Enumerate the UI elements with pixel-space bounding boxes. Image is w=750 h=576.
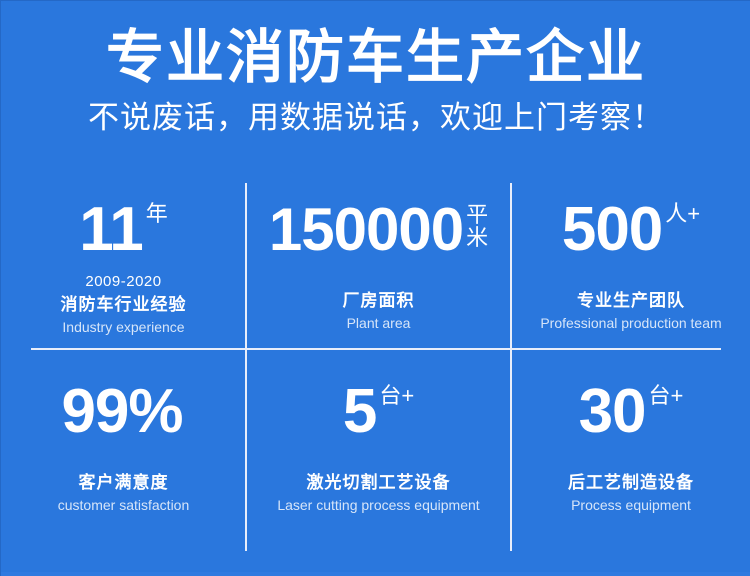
stat-cell-customer-satisfaction: 99% 客户满意度 customer satisfaction (1, 349, 246, 553)
stat-label-en: Process equipment (571, 496, 691, 514)
promo-poster: 专业消防车生产企业 不说废话，用数据说话，欢迎上门考察！ 11 年 2009-2… (0, 0, 750, 576)
stat-value: 99% (61, 381, 182, 443)
stat-number-row: 500 人+ (562, 199, 700, 261)
stat-label-cn: 专业生产团队 (577, 290, 685, 312)
stat-number-row: 99% (61, 381, 185, 443)
stat-unit-text: 年 (146, 203, 168, 225)
stats-grid: 11 年 2009-2020 消防车行业经验 Industry experien… (1, 177, 750, 553)
stat-unit: 台+ (649, 385, 684, 407)
stat-label-cn: 厂房面积 (343, 290, 415, 312)
stat-label-en: Plant area (347, 314, 411, 332)
stat-label-cn: 后工艺制造设备 (568, 472, 694, 494)
stat-cell-plant-area: 150000 平 米 厂房面积 Plant area (246, 177, 511, 349)
stat-label-en: Professional production team (540, 314, 721, 332)
stat-unit-text: 台+ (649, 385, 684, 407)
stat-cell-laser-cutting: 5 台+ 激光切割工艺设备 Laser cutting process equi… (246, 349, 511, 553)
stat-unit-text-top: 平 (466, 203, 488, 226)
stat-unit-text: 人+ (665, 203, 700, 225)
stat-value: 5 (343, 381, 376, 443)
stat-unit-text-bottom: 米 (466, 226, 488, 249)
stat-value: 11 (79, 199, 143, 261)
stat-number-row: 5 台+ (343, 381, 414, 443)
stat-value: 30 (579, 381, 646, 443)
stat-number-row: 150000 平 米 (269, 199, 488, 261)
bottom-edge-strip (1, 572, 750, 576)
stat-label-cn: 激光切割工艺设备 (307, 472, 451, 494)
stat-label-en: Industry experience (62, 318, 184, 336)
stat-unit: 平 米 (466, 203, 488, 249)
stat-value: 150000 (269, 199, 463, 261)
stat-label-en: customer satisfaction (58, 496, 190, 514)
stat-label-cn: 消防车行业经验 (61, 294, 187, 316)
stat-year-range: 2009-2020 (85, 273, 161, 291)
stat-unit-text: 台+ (379, 385, 414, 407)
stat-number-row: 30 台+ (579, 381, 684, 443)
stat-unit: 人+ (665, 203, 700, 225)
stat-cell-process-equipment: 30 台+ 后工艺制造设备 Process equipment (511, 349, 750, 553)
page-title: 专业消防车生产企业 (1, 25, 750, 91)
stat-unit: 台+ (379, 385, 414, 407)
page-subtitle: 不说废话，用数据说话，欢迎上门考察！ (1, 99, 750, 137)
stat-cell-industry-experience: 11 年 2009-2020 消防车行业经验 Industry experien… (1, 177, 246, 349)
stat-label-en: Laser cutting process equipment (277, 496, 479, 514)
stat-number-row: 11 年 (79, 199, 168, 261)
stat-value: 500 (562, 199, 662, 261)
poster-header: 专业消防车生产企业 不说废话，用数据说话，欢迎上门考察！ (1, 25, 750, 137)
stat-unit: 年 (146, 203, 168, 225)
stat-label-cn: 客户满意度 (79, 472, 169, 494)
stat-cell-production-team: 500 人+ 专业生产团队 Professional production te… (511, 177, 750, 349)
